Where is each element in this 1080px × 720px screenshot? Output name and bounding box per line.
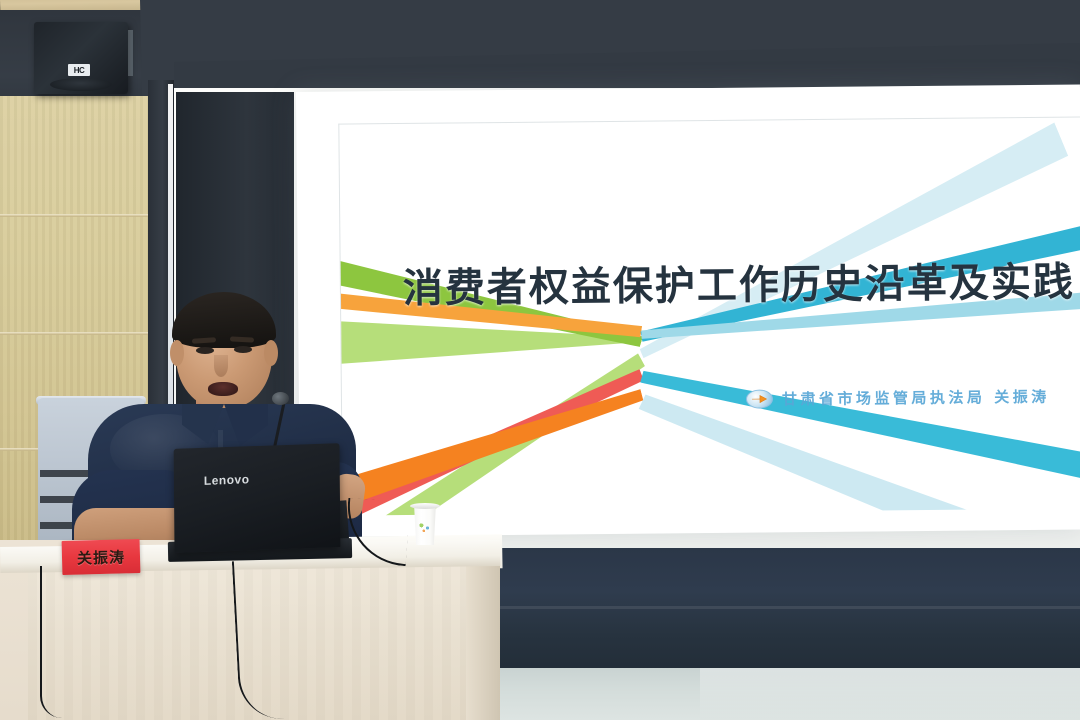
projection-screen: 消费者权益保护工作历史沿革及实践 甘肃省市场监管局执法局 关振涛	[296, 84, 1080, 537]
presenter-eye-left	[196, 347, 214, 354]
circular-arrow-logo-icon	[746, 389, 773, 408]
presenter-ear-left	[170, 340, 184, 366]
slide-subtitle-row: 甘肃省市场监管局执法局 关振涛	[746, 386, 1050, 410]
presenter-mouth	[208, 382, 238, 396]
presenter-eye-right	[234, 346, 252, 353]
laptop-brand-label: Lenovo	[204, 472, 250, 488]
floor-reflection	[700, 668, 1080, 720]
presenter-nose	[214, 355, 228, 377]
scene-root: 消费者权益保护工作历史沿革及实践 甘肃省市场监管局执法局 关振涛 HC	[0, 0, 1080, 720]
nameplate: 关振涛	[62, 539, 141, 575]
slide-ray-background	[339, 117, 1080, 515]
podium-right-edge	[466, 556, 500, 720]
wall-speaker: HC	[34, 22, 128, 94]
presentation-slide: 消费者权益保护工作历史沿革及实践 甘肃省市场监管局执法局 关振涛	[338, 116, 1080, 515]
microphone-icon	[272, 392, 289, 405]
speaker-badge: HC	[68, 64, 90, 76]
paper-cup-print	[419, 522, 431, 533]
paper-cup-rim	[410, 503, 440, 509]
slide-title: 消费者权益保护工作历史沿革及实践	[403, 249, 1080, 314]
laptop[interactable]: Lenovo	[174, 443, 341, 553]
speaker-cone	[50, 78, 112, 91]
nameplate-text: 关振涛	[77, 546, 126, 568]
slide-subtitle: 甘肃省市场监管局执法局 关振涛	[782, 386, 1050, 410]
presenter-ear-right	[264, 340, 278, 366]
podium-cable	[40, 566, 62, 718]
